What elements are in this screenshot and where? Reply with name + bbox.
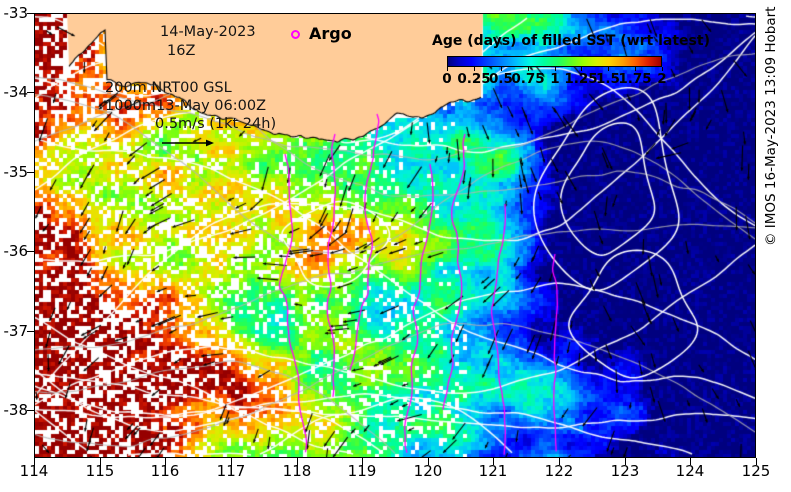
y-tick-label: -33 xyxy=(0,4,28,22)
colorbar-tick-label: 0.75 xyxy=(511,71,544,87)
x-tick-label: 118 xyxy=(283,462,312,480)
colorbar-title: Age (days) of filled SST (wrt latest) xyxy=(432,33,710,49)
y-tick-label: -34 xyxy=(0,83,28,101)
colorbar-tick-label: 1 xyxy=(550,71,559,87)
colorbar-tick-label: 0.25 xyxy=(457,71,490,87)
x-tick-label: 123 xyxy=(611,462,640,480)
figure-canvas: 114115116117118119120121122123124125 -33… xyxy=(0,0,791,492)
y-tick-label: -38 xyxy=(0,401,28,419)
x-tick-label: 121 xyxy=(479,462,508,480)
colorbar-tick-label: 0.5 xyxy=(489,71,513,87)
colorbar-tick-label: 1.25 xyxy=(564,71,597,87)
argo-legend-label: Argo xyxy=(309,24,352,43)
credit-label: © IMOS 16-May-2023 13:09 Hobart xyxy=(763,7,779,246)
colorbar-gradient xyxy=(447,56,662,67)
x-tick-label: 116 xyxy=(151,462,180,480)
colorbar-tick-label: 2 xyxy=(657,71,666,87)
y-tick-mark xyxy=(27,92,34,93)
x-tick-label: 114 xyxy=(20,462,49,480)
x-tick-label: 120 xyxy=(414,462,443,480)
y-tick-mark xyxy=(27,331,34,332)
x-tick-label: 125 xyxy=(742,462,771,480)
y-tick-mark xyxy=(27,172,34,173)
colorbar-tick-label: 1.75 xyxy=(618,71,651,87)
date-label-line1: 14-May-2023 xyxy=(160,24,256,40)
speed-scale-label: 0.5m/s (1kt 24h) xyxy=(155,116,276,132)
x-tick-label: 117 xyxy=(217,462,246,480)
argo-marker-icon xyxy=(291,30,300,39)
x-tick-label: 115 xyxy=(86,462,115,480)
colorbar-tick-label: 1.5 xyxy=(596,71,620,87)
x-tick-label: 122 xyxy=(545,462,574,480)
depth-label-200m: 200m NRT00 GSL xyxy=(105,80,232,96)
velocity-scale-arrow-icon xyxy=(162,138,214,148)
x-tick-label: 124 xyxy=(676,462,705,480)
x-tick-label: 119 xyxy=(348,462,377,480)
y-tick-mark xyxy=(27,410,34,411)
y-tick-mark xyxy=(27,251,34,252)
y-tick-mark xyxy=(27,13,34,14)
y-tick-label: -36 xyxy=(0,242,28,260)
y-tick-label: -35 xyxy=(0,163,28,181)
colorbar-tick-label: 0 xyxy=(442,71,451,87)
colorbar-tick-labels: 00.250.50.7511.251.51.752 xyxy=(447,71,662,89)
date-label-line2: 16Z xyxy=(167,43,195,59)
depth-label-1000m: 1000m13-May 06:00Z xyxy=(105,98,266,114)
y-tick-label: -37 xyxy=(0,322,28,340)
